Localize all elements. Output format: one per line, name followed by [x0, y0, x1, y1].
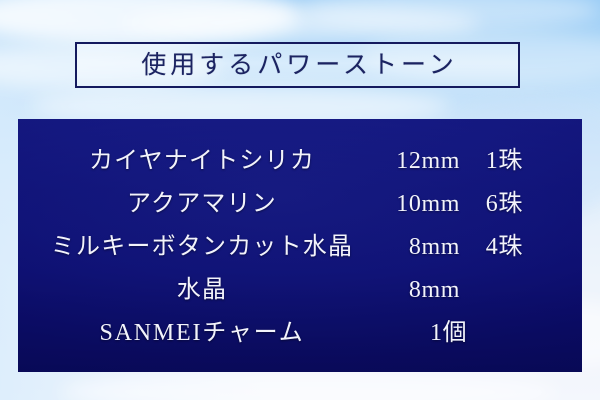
stone-size: 8mm [386, 234, 460, 261]
stone-row: ミルキーボタンカット水晶8mm4珠 [18, 226, 582, 269]
stone-name: アクアマリン [18, 183, 386, 218]
stone-spec: 8mm [386, 277, 582, 304]
stone-spec: 8mm4珠 [386, 226, 582, 261]
stone-row: 水晶8mm [18, 269, 582, 312]
stone-name: SANMEIチャーム [18, 312, 386, 347]
stone-list-panel: カイヤナイトシリカ12mm1珠アクアマリン10mm6珠ミルキーボタンカット水晶8… [18, 119, 582, 372]
stone-spec: 1個 [386, 312, 582, 347]
stone-list: カイヤナイトシリカ12mm1珠アクアマリン10mm6珠ミルキーボタンカット水晶8… [18, 119, 582, 355]
stone-name: カイヤナイトシリカ [18, 140, 386, 175]
stone-size: 12mm [386, 148, 460, 175]
stone-quantity: 6珠 [460, 183, 523, 218]
stone-row: アクアマリン10mm6珠 [18, 183, 582, 226]
stone-spec: 10mm6珠 [386, 183, 582, 218]
poster-canvas: 使用するパワーストーン カイヤナイトシリカ12mm1珠アクアマリン10mm6珠ミ… [0, 0, 600, 400]
stone-name: 水晶 [18, 269, 386, 304]
stone-quantity: 4珠 [460, 226, 523, 261]
stone-size: 8mm [386, 277, 460, 304]
stone-size: 10mm [386, 191, 460, 218]
title-frame: 使用するパワーストーン [75, 42, 520, 88]
stone-name: ミルキーボタンカット水晶 [18, 226, 386, 261]
stone-quantity: 1個 [430, 312, 467, 347]
stone-spec: 12mm1珠 [386, 140, 582, 175]
page-title: 使用するパワーストーン [137, 53, 458, 78]
stone-row: カイヤナイトシリカ12mm1珠 [18, 140, 582, 183]
stone-row: SANMEIチャーム1個 [18, 312, 582, 355]
stone-quantity: 1珠 [460, 140, 523, 175]
